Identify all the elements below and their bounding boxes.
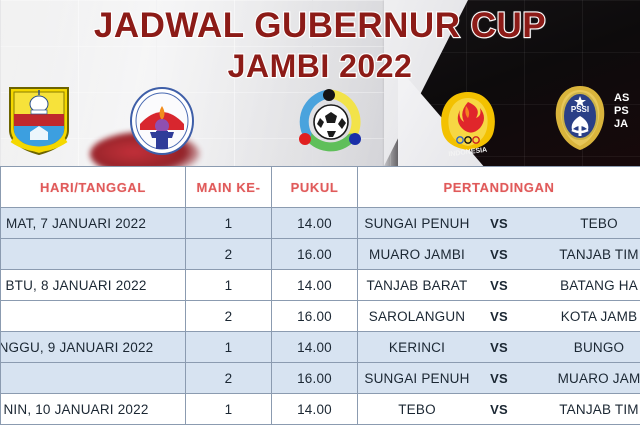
vs-label: VS (476, 402, 522, 417)
table-row: MAT, 7 JANUARI 2022114.00SUNGAI PENUHVST… (1, 208, 640, 239)
cell-match-no: 1 (186, 270, 272, 301)
vs-label: VS (476, 216, 522, 231)
cell-time: 14.00 (272, 208, 358, 239)
jambi-province-emblem-logo (6, 84, 72, 156)
cell-match-no: 2 (186, 363, 272, 394)
svg-text:PSSI: PSSI (571, 105, 589, 114)
cell-day: NGGU, 9 JANUARI 2022 (1, 332, 186, 363)
cell-time: 14.00 (272, 270, 358, 301)
cell-day: MAT, 7 JANUARI 2022 (1, 208, 186, 239)
schedule-table-container: HARI/TANGGAL MAIN KE- PUKUL PERTANDINGAN… (0, 166, 640, 426)
table-body: MAT, 7 JANUARI 2022114.00SUNGAI PENUHVST… (1, 208, 640, 425)
table-row: NGGU, 9 JANUARI 2022114.00KERINCIVSBUNGO (1, 332, 640, 363)
home-team: KERINCI (358, 340, 476, 355)
match-pair: SUNGAI PENUHVSMUARO JAM (358, 363, 640, 393)
column-header-time: PUKUL (272, 167, 358, 208)
cell-day-text: NGGU, 9 JANUARI 2022 (1, 340, 154, 355)
cell-match: MUARO JAMBIVSTANJAB TIM (358, 239, 640, 270)
away-team: KOTA JAMB (540, 309, 640, 324)
column-header-match-no: MAIN KE- (186, 167, 272, 208)
home-team: TEBO (358, 402, 476, 417)
away-team: TANJAB TIM (540, 402, 640, 417)
match-pair: KERINCIVSBUNGO (358, 332, 640, 362)
away-team: MUARO JAM (540, 371, 640, 386)
away-team: BATANG HA (540, 278, 640, 293)
match-pair: MUARO JAMBIVSTANJAB TIM (358, 239, 640, 269)
cell-day: BTU, 8 JANUARI 2022 (1, 270, 186, 301)
cell-match-no: 1 (186, 332, 272, 363)
vs-label: VS (476, 309, 522, 324)
cell-match-no: 2 (186, 239, 272, 270)
koni-white-oval-logo (128, 86, 196, 156)
cell-day-text: MAT, 7 JANUARI 2022 (6, 216, 146, 231)
schedule-table: HARI/TANGGAL MAIN KE- PUKUL PERTANDINGAN… (0, 166, 640, 425)
pssi-caption-line3: JA (614, 118, 629, 131)
soccer-ball-swirl-logo (293, 86, 365, 156)
vs-label: VS (476, 278, 522, 293)
cell-day-text: BTU, 8 JANUARI 2022 (5, 278, 146, 293)
vs-label: VS (476, 371, 522, 386)
cell-time: 14.00 (272, 332, 358, 363)
cell-day (1, 363, 186, 394)
away-team: TANJAB TIM (540, 247, 640, 262)
home-team: TANJAB BARAT (358, 278, 476, 293)
svg-text:INDONESIA: INDONESIA (448, 147, 487, 156)
match-pair: SUNGAI PENUHVSTEBO (358, 208, 640, 238)
pssi-caption-line2: PS (614, 105, 629, 118)
away-team: BUNGO (540, 340, 640, 355)
cell-time: 16.00 (272, 363, 358, 394)
cell-match: SUNGAI PENUHVSMUARO JAM (358, 363, 640, 394)
column-header-day: HARI/TANGGAL (1, 167, 186, 208)
pssi-logo: PSSI (548, 82, 612, 154)
cell-match-no: 2 (186, 301, 272, 332)
match-pair: TANJAB BARATVSBATANG HA (358, 270, 640, 300)
cell-day (1, 239, 186, 270)
table-header-row: HARI/TANGGAL MAIN KE- PUKUL PERTANDINGAN (1, 167, 640, 208)
cell-match: TANJAB BARATVSBATANG HA (358, 270, 640, 301)
poster-title-line2: JAMBI 2022 (0, 50, 640, 83)
poster-banner: JADWAL GUBERNUR CUP JAMBI 2022 (0, 0, 640, 166)
table-row: NIN, 10 JANUARI 2022114.00TEBOVSTANJAB T… (1, 394, 640, 425)
vs-label: VS (476, 247, 522, 262)
poster-title: JADWAL GUBERNUR CUP JAMBI 2022 (0, 8, 640, 82)
vs-label: VS (476, 340, 522, 355)
poster-title-line1: JADWAL GUBERNUR CUP (0, 8, 640, 44)
cell-match: TEBOVSTANJAB TIM (358, 394, 640, 425)
cell-match: KERINCIVSBUNGO (358, 332, 640, 363)
cell-time: 14.00 (272, 394, 358, 425)
away-team: TEBO (540, 216, 640, 231)
pssi-caption: AS PS JA (614, 92, 629, 131)
pssi-caption-line1: AS (614, 92, 629, 105)
cell-match-no: 1 (186, 208, 272, 239)
table-header: HARI/TANGGAL MAIN KE- PUKUL PERTANDINGAN (1, 167, 640, 208)
column-header-match: PERTANDINGAN (358, 167, 640, 208)
schedule-poster: JADWAL GUBERNUR CUP JAMBI 2022 (0, 0, 640, 426)
home-team: SAROLANGUN (358, 309, 476, 324)
cell-day-text: NIN, 10 JANUARI 2022 (3, 402, 148, 417)
home-team: SUNGAI PENUH (358, 371, 476, 386)
cell-day (1, 301, 186, 332)
cell-match: SAROLANGUNVSKOTA JAMB (358, 301, 640, 332)
home-team: SUNGAI PENUH (358, 216, 476, 231)
home-team: MUARO JAMBI (358, 247, 476, 262)
table-row: 216.00MUARO JAMBIVSTANJAB TIM (1, 239, 640, 270)
cell-day: NIN, 10 JANUARI 2022 (1, 394, 186, 425)
match-pair: TEBOVSTANJAB TIM (358, 394, 640, 424)
table-row: 216.00SUNGAI PENUHVSMUARO JAM (1, 363, 640, 394)
cell-time: 16.00 (272, 239, 358, 270)
table-row: BTU, 8 JANUARI 2022114.00TANJAB BARATVSB… (1, 270, 640, 301)
match-pair: SAROLANGUNVSKOTA JAMB (358, 301, 640, 331)
cell-match-no: 1 (186, 394, 272, 425)
cell-time: 16.00 (272, 301, 358, 332)
cell-match: SUNGAI PENUHVSTEBO (358, 208, 640, 239)
table-row: 216.00SAROLANGUNVSKOTA JAMB (1, 301, 640, 332)
koni-indonesia-logo: INDONESIA (434, 86, 502, 156)
